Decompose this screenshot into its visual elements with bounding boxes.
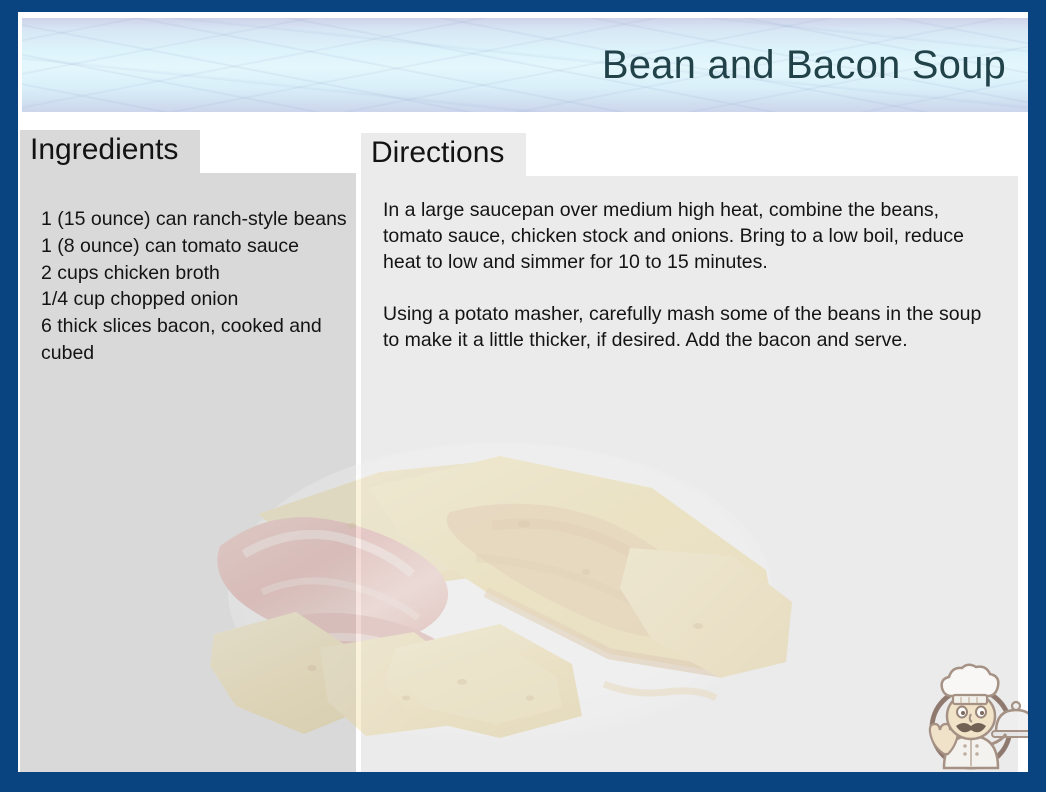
recipe-slide: Bean and Bacon Soup Ingredients 1 (15 ou… <box>0 0 1046 792</box>
directions-body: In a large saucepan over medium high hea… <box>383 197 1002 353</box>
tab-directions[interactable]: Directions <box>361 133 526 177</box>
directions-paragraph-2: Using a potato masher, carefully mash so… <box>383 301 1002 353</box>
tab-ingredients[interactable]: Ingredients <box>20 130 200 174</box>
cloche-icon <box>992 702 1028 737</box>
slide-page: Bean and Bacon Soup Ingredients 1 (15 ou… <box>18 12 1028 772</box>
chef-logo <box>908 654 1028 772</box>
ingredients-panel: 1 (15 ounce) can ranch-style beans 1 (8 … <box>20 173 356 772</box>
page-title: Bean and Bacon Soup <box>602 43 1006 87</box>
ingredients-list: 1 (15 ounce) can ranch-style beans 1 (8 … <box>41 206 348 367</box>
chef-hat-icon <box>942 665 999 704</box>
chef-logo-image <box>908 654 1028 772</box>
header-banner: Bean and Bacon Soup <box>22 18 1028 112</box>
directions-paragraph-1: In a large saucepan over medium high hea… <box>383 197 1002 275</box>
